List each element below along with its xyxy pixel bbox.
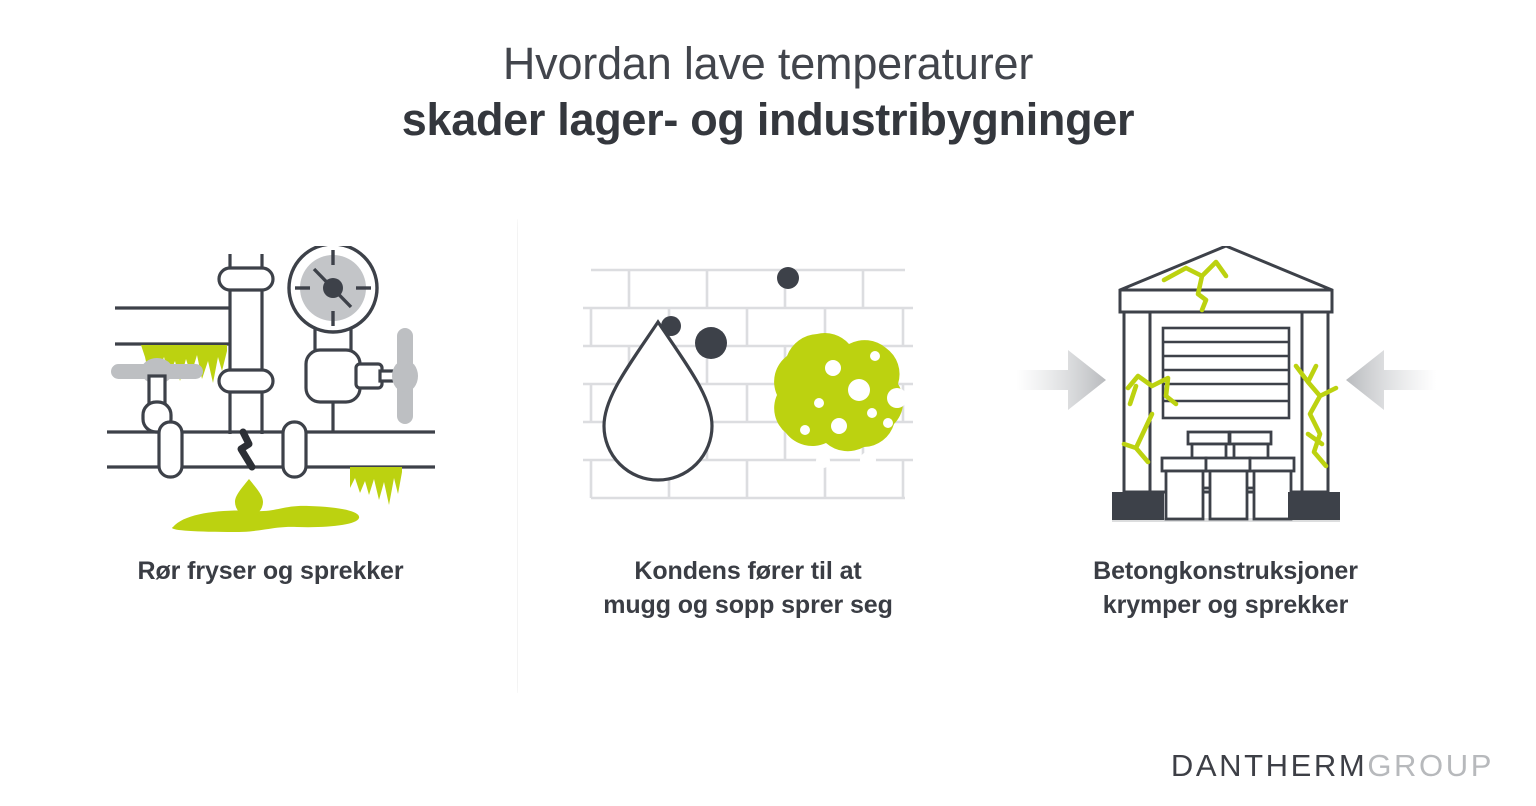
water-drip (235, 479, 263, 516)
pressure-gauge-icon (289, 246, 377, 332)
card-label-concrete-cracking: Betongkonstruksjoner krymper og sprekker (995, 555, 1456, 622)
infographic-poster: Hvordan lave temperaturer skader lager- … (0, 0, 1536, 806)
water-puddle (172, 506, 359, 532)
card-label-line-2: mugg og sopp sprer seg (546, 589, 951, 623)
card-label-line-1: Betongkonstruksjoner (1093, 557, 1358, 585)
warehouse-roof (1120, 246, 1332, 312)
card-label-line-1: Kondens fører til at (634, 557, 861, 585)
card-label-line-2: krymper og sprekker (1023, 589, 1428, 623)
concrete-warehouse-illustration (995, 241, 1456, 541)
page-title: Hvordan lave temperaturer skader lager- … (0, 38, 1536, 148)
card-label-condensation-mould: Kondens fører til at mugg og sopp sprer … (518, 555, 979, 622)
card-condensation-mould[interactable]: Kondens fører til at mugg og sopp sprer … (518, 219, 979, 693)
pipes-icon (101, 246, 441, 536)
card-frozen-pipes[interactable]: Rør fryser og sprekker (40, 219, 501, 693)
page-title-line-2: skader lager- og industribygninger (0, 93, 1536, 148)
logo-dantherm: DANTHERM (1171, 748, 1367, 783)
stacked-boxes (1162, 432, 1294, 519)
card-label-frozen-pipes: Rør fryser og sprekker (40, 555, 501, 589)
card-row: Rør fryser og sprekker (40, 219, 1456, 693)
card-concrete-cracking[interactable]: Betongkonstruksjoner krymper og sprekker (995, 219, 1456, 693)
warehouse-icon (1016, 246, 1436, 536)
compression-arrow-right (1346, 350, 1436, 410)
logo-group: GROUP (1367, 748, 1494, 783)
card-label-line-1: Rør fryser og sprekker (138, 557, 404, 585)
frost-icicles-lower (350, 467, 402, 505)
valve-lever (392, 328, 418, 424)
mould-wall-icon (583, 246, 913, 536)
compression-arrow-left (1016, 350, 1106, 410)
dantherm-group-logo: DANTHERMGROUP (1171, 748, 1494, 784)
frozen-pipes-illustration (40, 241, 501, 541)
page-title-line-1: Hvordan lave temperaturer (0, 38, 1536, 89)
roller-door (1163, 328, 1289, 418)
condensation-mould-illustration (518, 241, 979, 541)
mould-blob (774, 333, 907, 468)
valve-body (306, 326, 406, 402)
pipe-crack (241, 432, 252, 467)
